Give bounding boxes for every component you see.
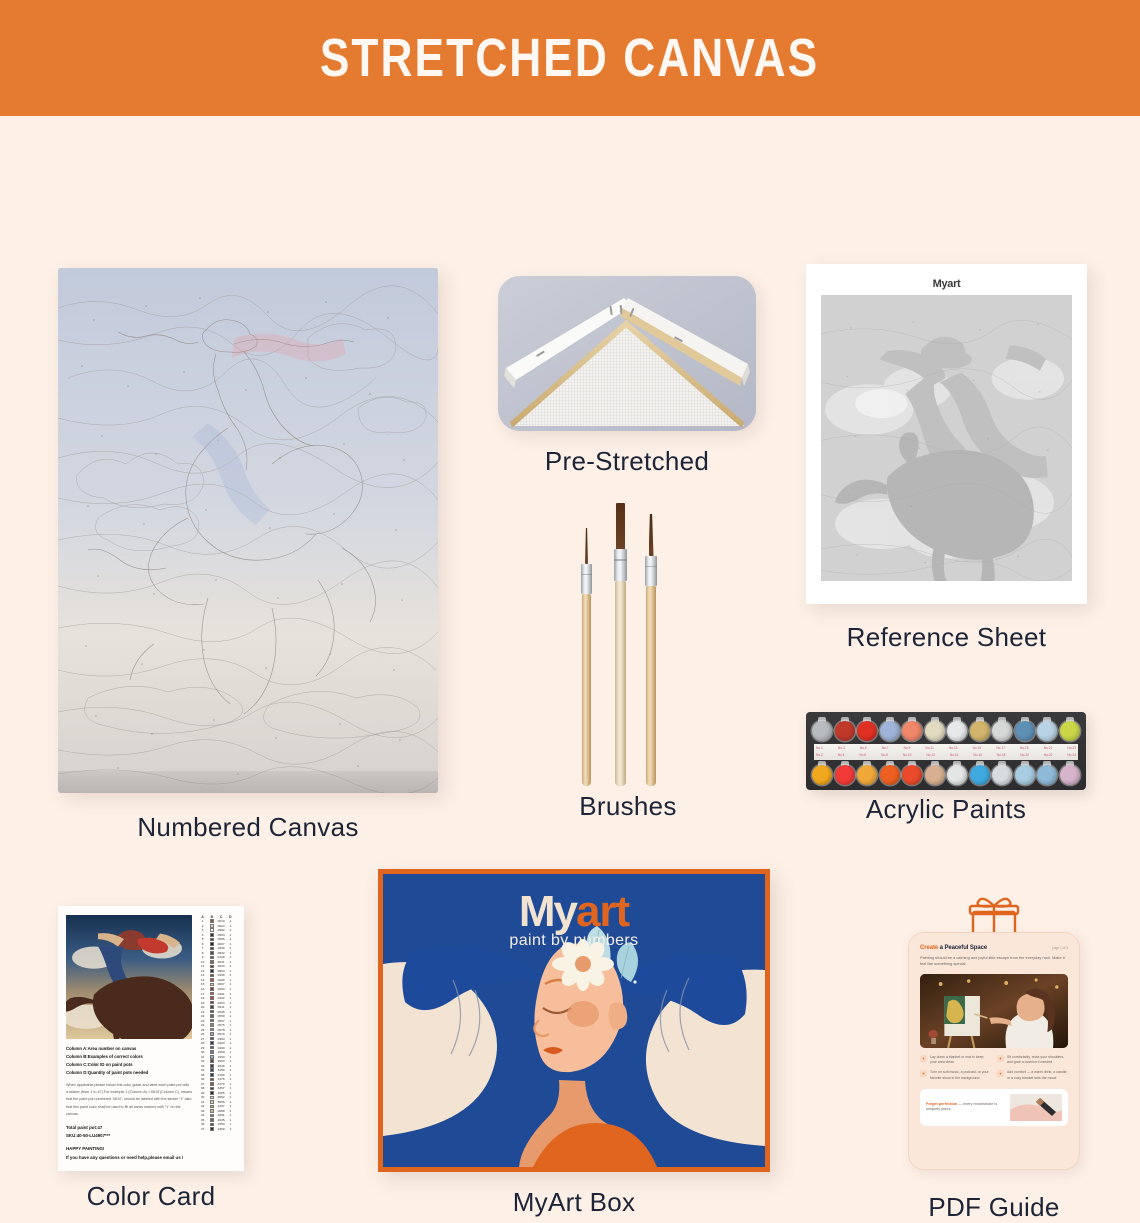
color-id: 5556 [217,1100,226,1104]
area-number: 1 [198,919,207,923]
color-swatch-cell [207,1055,216,1059]
paint-pot[interactable] [947,761,967,787]
brush-medium [646,514,656,786]
paint-pot[interactable] [880,717,900,743]
area-number: 28 [198,1041,207,1045]
brush-flat [615,503,626,786]
area-number: 43 [198,1109,207,1113]
column-a-desc: Column A:Area number on canvas [66,1045,192,1053]
paint-label-number: No.10 [903,753,912,757]
pot-quantity: 1 [226,955,235,959]
color-card-artwork [66,915,192,1039]
paint-label-number: No.2 [816,753,823,757]
color-swatch [210,1050,214,1054]
paint-pot[interactable] [902,717,922,743]
paint-label-number: No.6 [859,753,866,757]
myart-box-image: Myart paint by numbers [378,869,770,1172]
pot-quantity: 1 [226,1050,235,1054]
pdf-note-image [1010,1094,1062,1121]
area-number: 30 [198,1050,207,1054]
paint-label-number: No.15 [973,746,982,750]
pot-quantity: 1 [226,1077,235,1081]
color-id: 0033 [217,964,226,968]
color-swatch [210,1091,214,1095]
paint-pot-body [902,765,922,785]
color-id: 1993 [217,1055,226,1059]
color-id: 3257 [217,1086,226,1090]
paint-pot[interactable] [857,717,877,743]
color-card-paragraph: When applicable,please follow this color… [66,1082,192,1119]
paint-pot[interactable] [1015,717,1035,743]
pre-stretched-image [498,276,756,431]
color-card-table: ABCD 10610120924130982140564150566160007… [197,915,236,1162]
pdf-heading-rest: a Peaceful Space [938,945,987,951]
color-swatch-cell [207,1068,216,1072]
area-number: 44 [198,1113,207,1117]
area-number: 14 [198,978,207,982]
pot-quantity: 1 [226,973,235,977]
area-number: 22 [198,1014,207,1018]
color-swatch [210,1127,214,1131]
color-swatch [210,1032,214,1036]
page-header: STRETCHED CANVAS [0,0,1140,116]
color-swatch-cell [207,1073,216,1077]
paint-label-number: No.16 [973,753,982,757]
color-swatch-cell [207,1001,216,1005]
color-swatch-cell [207,1087,216,1091]
area-number: 9 [198,955,207,959]
color-swatch-cell [207,1082,216,1086]
area-number: 5 [198,937,207,941]
color-swatch [210,1014,214,1018]
color-card-left-column: Column A:Area number on canvas Column B:… [66,915,192,1162]
pdf-tip: ✦ Turn on soft music, a podcast, or your… [920,1070,991,1081]
color-swatch [210,1059,214,1063]
area-number: 32 [198,1059,207,1063]
area-number: 2 [198,924,207,928]
paint-pot-body [925,765,945,785]
tip-icon: ✦ [997,1070,1004,1077]
acrylic-paints-label: Acrylic Paints [806,794,1086,825]
color-swatch [210,956,214,960]
color-swatch-cell [207,919,216,923]
paint-label-number: No.21 [1044,746,1053,750]
pot-quantity: 1 [226,1082,235,1086]
pot-quantity: 1 [226,960,235,964]
pdf-heading-accent: Create [920,945,938,951]
color-swatch [210,924,214,928]
color-id: 0007 [217,982,226,986]
paint-label-number: No.3 [838,746,845,750]
paint-label-number: No.22 [1044,753,1053,757]
tip-icon: ✦ [920,1070,927,1077]
color-id: 5552 [217,1095,226,1099]
pot-quantity: 1 [226,964,235,968]
pdf-page-label: page 1 of 3 [1052,946,1068,950]
tip-icon: ✦ [920,1055,927,1062]
pdf-tip-text: Lay down a blanket or mat to keep your a… [930,1055,991,1066]
area-number: 36 [198,1077,207,1081]
pot-quantity: 1 [226,919,235,923]
pdf-heading: Create a Peaceful Space [920,945,987,951]
paint-label-number: No.8 [881,753,888,757]
color-swatch [210,1105,214,1109]
color-card-instructions: Column A:Area number on canvas Column B:… [66,1045,192,1162]
pot-quantity: 1 [226,982,235,986]
color-swatch-cell [207,933,216,937]
pdf-tip-text: Sit comfortably, relax your shoulders, a… [1007,1055,1068,1066]
color-swatch-cell [207,983,216,987]
pot-quantity: 1 [226,1086,235,1090]
color-card-item: Column A:Area number on canvas Column B:… [58,906,244,1171]
color-swatch [210,947,214,951]
color-swatch [210,983,214,987]
area-number: 20 [198,1005,207,1009]
paint-row-bottom [812,761,1080,787]
pot-quantity: 1 [226,1005,235,1009]
color-card-col-header: B [207,915,216,919]
color-swatch-cell [207,1037,216,1041]
color-swatch-cell [207,924,216,928]
paint-pot[interactable] [925,717,945,743]
color-swatch [210,1019,214,1023]
paint-pot[interactable] [992,717,1012,743]
color-swatch-cell [207,1091,216,1095]
paint-label-number: No.1 [816,746,823,750]
paint-pot-body [880,721,900,741]
color-swatch-cell [207,1046,216,1050]
color-swatch [210,1055,214,1059]
color-id: 0409 [217,1046,226,1050]
pdf-tip: ✦ Sit comfortably, relax your shoulders,… [997,1055,1068,1066]
color-id: 0566 [217,937,226,941]
brush-ferrule [581,564,592,594]
color-swatch-cell [207,960,216,964]
box-logo: Myart [383,890,765,934]
paint-pot-body [835,765,855,785]
paint-pot[interactable] [812,717,832,743]
paint-label-number: No.17 [996,746,1005,750]
color-swatch [210,969,214,973]
paint-pot-body [925,721,945,741]
color-id: 0564 [217,969,226,973]
tip-icon: ✦ [997,1055,1004,1062]
paint-label-number: No.9 [904,746,911,750]
color-id: 0532 [217,951,226,955]
color-swatch [210,1087,214,1091]
color-swatch-cell [207,1028,216,1032]
pot-quantity: 1 [226,1014,235,1018]
color-swatch [210,996,214,1000]
brush-small [582,528,591,786]
pot-quantity: 1 [226,978,235,982]
paint-pot[interactable] [1037,761,1057,787]
color-id: 2354 [217,1122,226,1126]
paint-label-strip: No.1No.3No.5No.7No.9No.11No.13No.15No.17… [814,744,1078,760]
color-swatch-cell [207,1032,216,1036]
paint-pot[interactable] [947,717,967,743]
color-swatch-cell [207,1123,216,1127]
paint-pot-body [970,765,990,785]
paint-row-top [812,717,1080,743]
area-number: 41 [198,1100,207,1104]
total-paint-pot: Total paint pot:47 [66,1124,192,1132]
pdf-guide-item: Create a Peaceful Space page 1 of 3 Pain… [898,894,1090,1172]
pdf-guide-image: Create a Peaceful Space page 1 of 3 Pain… [908,932,1080,1170]
area-number: 29 [198,1046,207,1050]
pot-quantity: 1 [226,1064,235,1068]
color-id: 0982 [217,928,226,932]
paint-pot-body [857,721,877,741]
color-swatch-cell [207,1014,216,1018]
area-number: 34 [198,1068,207,1072]
acrylic-paints-item: No.1No.3No.5No.7No.9No.11No.13No.15No.17… [806,712,1086,790]
color-swatch [210,1068,214,1072]
area-number: 4 [198,933,207,937]
logo-art-text: art [576,887,629,936]
paint-pot[interactable] [880,761,900,787]
paint-pot-body [1060,765,1080,785]
reference-sheet-label: Reference Sheet [806,622,1087,653]
color-id: 2045 [217,1118,226,1122]
area-number: 37 [198,1082,207,1086]
color-swatch-cell [207,942,216,946]
color-card-table-body: 1061012092413098214056415056616000717053… [197,919,236,1131]
pot-quantity: 1 [226,951,235,955]
paint-pot[interactable] [857,761,877,787]
area-number: 42 [198,1104,207,1108]
brush-handle [582,594,591,786]
color-swatch [210,1028,214,1032]
pdf-heading-row: Create a Peaceful Space page 1 of 3 [920,945,1068,951]
column-b-desc: Column B:Examples of correct colors [66,1053,192,1061]
paint-pot[interactable] [812,761,832,787]
paint-pot[interactable] [835,761,855,787]
column-d-desc: Column D:Quantity of paint pots needed [66,1069,192,1077]
brush-handle [646,586,656,786]
color-card-image: Column A:Area number on canvas Column B:… [58,906,244,1171]
color-swatch-cell [207,1114,216,1118]
pot-quantity: 1 [226,1046,235,1050]
pdf-tip-text: Turn on soft music, a podcast, or your f… [930,1070,991,1081]
color-id: 0269 [217,978,226,982]
paint-pot[interactable] [992,761,1012,787]
color-swatch [210,974,214,978]
brush-handle [615,581,626,786]
color-swatch [210,1037,214,1041]
numbered-canvas-label: Numbered Canvas [58,812,438,843]
pot-quantity: 1 [226,1113,235,1117]
pot-quantity: 1 [226,1023,235,1027]
color-id: 0541 [217,1005,226,1009]
sku-line: SKU:40-50-LU4907*** [66,1132,192,1140]
area-number: 46 [198,1122,207,1126]
color-swatch-cell [207,1023,216,1027]
pot-quantity: 1 [226,1019,235,1023]
color-swatch [210,987,214,991]
pot-quantity: 1 [226,1073,235,1077]
paint-pot[interactable] [970,717,990,743]
area-number: 10 [198,960,207,964]
color-id: 0557 [217,1019,226,1023]
paint-label-number: No.11 [926,746,934,750]
paint-pot[interactable] [970,761,990,787]
color-swatch-cell [207,1078,216,1082]
area-number: 7 [198,946,207,950]
reference-sheet-artwork [821,295,1072,581]
paint-pot[interactable] [1037,717,1057,743]
area-number: 12 [198,969,207,973]
color-swatch [210,1109,214,1113]
color-swatch-cell [207,1109,216,1113]
reference-sheet-item: Myart [806,264,1087,604]
color-card-row: 4723601 [197,1127,236,1132]
pre-stretched-item: Pre-Stretched [498,276,756,431]
color-swatch-cell [207,987,216,991]
paint-label-number: No.20 [1020,753,1029,757]
area-number: 38 [198,1086,207,1090]
color-id: 0031 [217,960,226,964]
color-swatch [210,960,214,964]
pdf-note: Forget perfection — every brushstroke is… [920,1089,1068,1126]
pot-quantity: 1 [226,1055,235,1059]
pot-quantity: 1 [226,1109,235,1113]
color-id: 0453 [217,1001,226,1005]
paint-pot[interactable] [1060,717,1080,743]
pdf-photo [920,974,1068,1048]
pot-quantity: 1 [226,987,235,991]
color-swatch-cell [207,1064,216,1068]
color-swatch [210,1010,214,1014]
paint-pot[interactable] [835,717,855,743]
pot-quantity: 1 [226,1001,235,1005]
color-swatch [210,1100,214,1104]
paint-pot-body [992,721,1012,741]
color-swatch-cell [207,992,216,996]
pdf-intro: Painting should be a calming and joyful … [920,955,1068,968]
color-swatch-cell [207,1041,216,1045]
color-swatch [210,965,214,969]
color-id: 3179 [217,1082,226,1086]
area-number: 24 [198,1023,207,1027]
box-branding: Myart paint by numbers [383,890,765,950]
color-swatch-cell [207,1105,216,1109]
area-number: 15 [198,982,207,986]
paint-pot-body [812,721,832,741]
color-swatch-cell [207,956,216,960]
color-swatch-cell [207,1010,216,1014]
color-swatch [210,1005,214,1009]
area-number: 40 [198,1095,207,1099]
color-swatch [210,942,214,946]
numbered-canvas-item: Numbered Canvas [58,268,438,793]
reference-sheet-logo: Myart [821,278,1072,290]
color-id: 3159 [217,1068,226,1072]
pot-quantity: 1 [226,1028,235,1032]
color-swatch-cell [207,1118,216,1122]
paint-pot[interactable] [902,761,922,787]
area-number: 31 [198,1055,207,1059]
pot-quantity: 1 [226,1118,235,1122]
pot-quantity: 1 [226,992,235,996]
area-number: 26 [198,1032,207,1036]
color-id: 0254 [217,987,226,991]
color-card-label: Color Card [58,1181,244,1212]
color-swatch-cell [207,1096,216,1100]
color-swatch-cell [207,928,216,932]
color-id: 0546 [217,1010,226,1014]
pdf-tip: ✦ Lay down a blanket or mat to keep your… [920,1055,991,1066]
area-number: 11 [198,964,207,968]
area-number: 16 [198,987,207,991]
pot-quantity: 1 [226,1100,235,1104]
paint-pot-body [835,721,855,741]
paint-label-number: No.4 [838,753,845,757]
paint-pot-body [857,765,877,785]
color-swatch [210,1001,214,1005]
paint-label-number: No.13 [949,746,958,750]
pot-quantity: 1 [226,924,235,928]
color-swatch [210,919,214,923]
color-id: 0924 [217,924,226,928]
brushes-item: Brushes [568,501,688,786]
pdf-note-accent: Forget perfection [926,1102,957,1106]
column-c-desc: Column C:Color ID on paint pots [66,1061,192,1069]
color-swatch [210,992,214,996]
paint-pot[interactable] [1060,761,1080,787]
paint-pot[interactable] [925,761,945,787]
color-swatch-cell [207,978,216,982]
color-swatch-cell [207,974,216,978]
color-swatch [210,1041,214,1045]
box-front-face: Myart paint by numbers [383,874,765,1167]
paint-pot[interactable] [1015,761,1035,787]
area-number: 45 [198,1118,207,1122]
color-id: 0575 [217,1023,226,1027]
paint-label-number: No.19 [1020,746,1029,750]
pot-quantity: 1 [226,996,235,1000]
color-id: 0578 [217,1028,226,1032]
pot-quantity: 1 [226,1095,235,1099]
paint-pot-body [1037,765,1057,785]
brush-bristles [649,514,654,556]
pot-quantity: 1 [226,946,235,950]
color-id: 0579 [217,1032,226,1036]
color-id: 1297 [217,1104,226,1108]
pot-quantity: 1 [226,937,235,941]
area-number: 18 [198,996,207,1000]
contact-line: If you have any questions or need help,p… [66,1154,192,1162]
color-swatch [210,933,214,937]
color-swatch [210,1023,214,1027]
color-swatch [210,928,214,932]
area-number: 25 [198,1028,207,1032]
color-id: 2360 [217,1127,226,1131]
color-id: 3169 [217,1073,226,1077]
color-swatch [210,1123,214,1127]
area-number: 3 [198,928,207,932]
paint-pot-body [1015,721,1035,741]
pot-quantity: 1 [226,1059,235,1063]
page-title: STRETCHED CANVAS [320,27,819,89]
pdf-tip: ✦ Add comfort — a warm drink, a candle, … [997,1070,1068,1081]
color-swatch [210,1096,214,1100]
area-number: 27 [198,1037,207,1041]
color-id: 0464 [217,1037,226,1041]
color-swatch-cell [207,1050,216,1054]
color-swatch-cell [207,1100,216,1104]
color-id: 0401 [217,992,226,996]
